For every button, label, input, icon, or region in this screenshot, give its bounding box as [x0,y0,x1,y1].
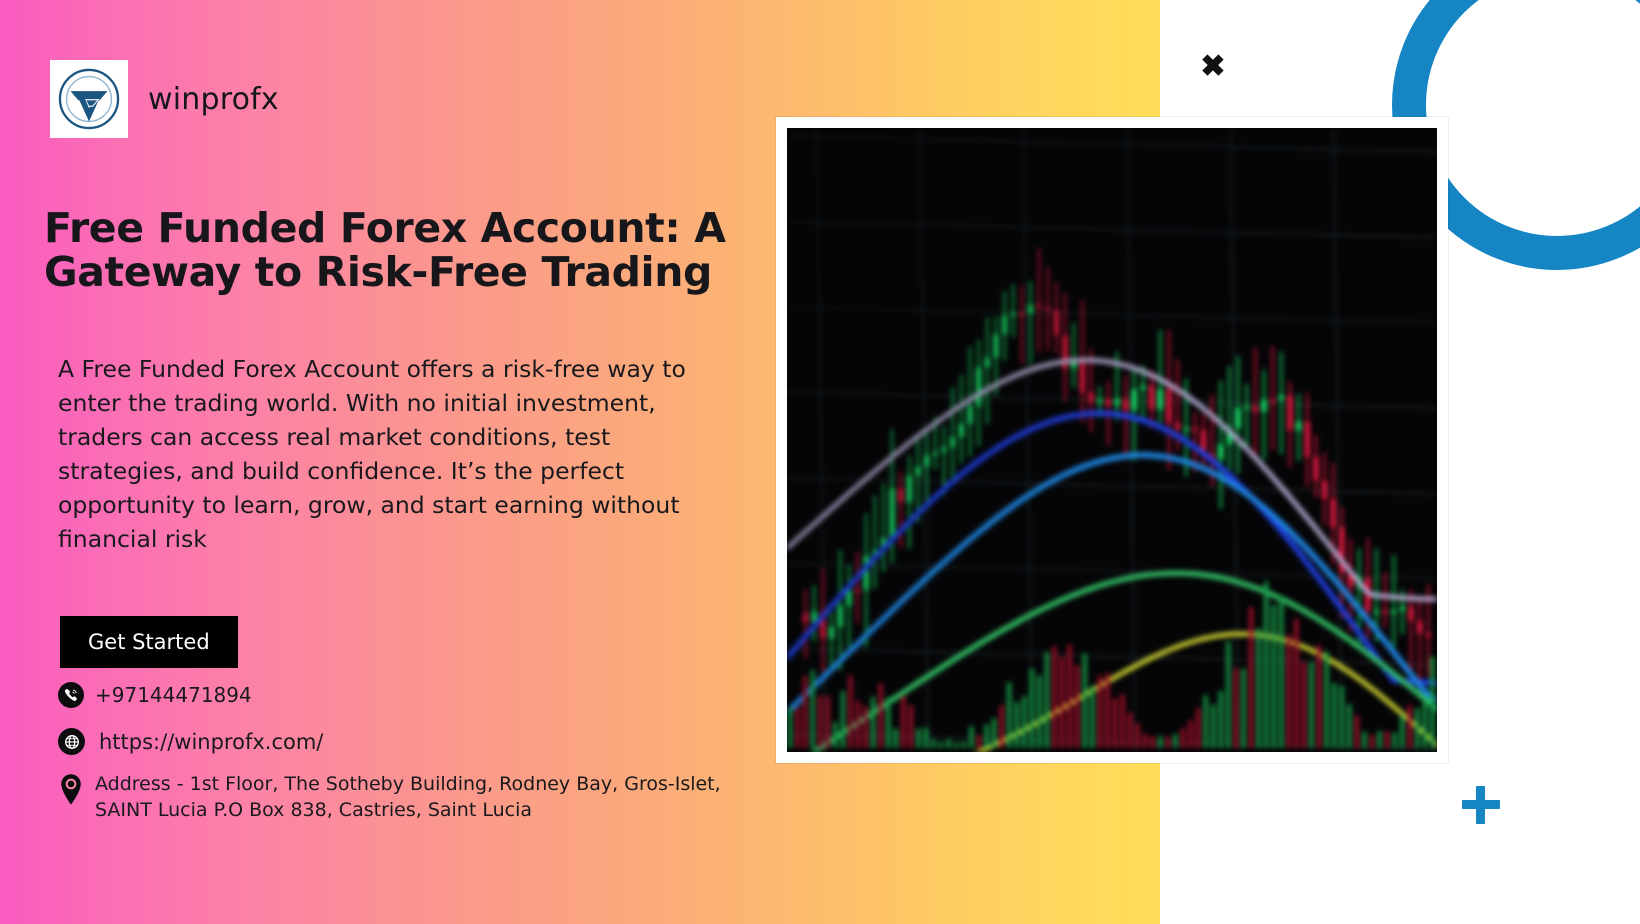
get-started-button[interactable]: Get Started [60,616,238,668]
chart-photo-card [776,117,1448,763]
phone-icon [58,682,84,708]
contact-address-line1: Address - 1st Floor, The Sotheby Buildin… [95,773,721,795]
brand-name: winprofx [148,82,279,117]
plus-mark-icon [1462,786,1500,824]
contact-address-row: Address - 1st Floor, The Sotheby Buildin… [58,772,721,823]
forex-chart-photo [787,128,1437,752]
brand-lockup: winprofx [50,60,279,138]
contact-website-value: https://winprofx.com/ [99,730,323,754]
contact-address-line2: SAINT Lucia P.O Box 838, Castries, Saint… [95,799,532,821]
body-paragraph: A Free Funded Forex Account offers a ris… [58,352,738,556]
forex-chart-canvas [787,128,1437,752]
page-title: Free Funded Forex Account: A Gateway to … [44,206,744,295]
contact-phone-row[interactable]: +97144471894 [58,682,252,708]
contact-website-row[interactable]: https://winprofx.com/ [58,728,323,755]
contact-phone-value: +97144471894 [95,683,252,707]
location-pin-icon [58,773,84,807]
x-mark-icon: ✖ [1196,50,1230,84]
winprofx-logo-icon [50,60,128,138]
globe-icon [58,728,85,755]
